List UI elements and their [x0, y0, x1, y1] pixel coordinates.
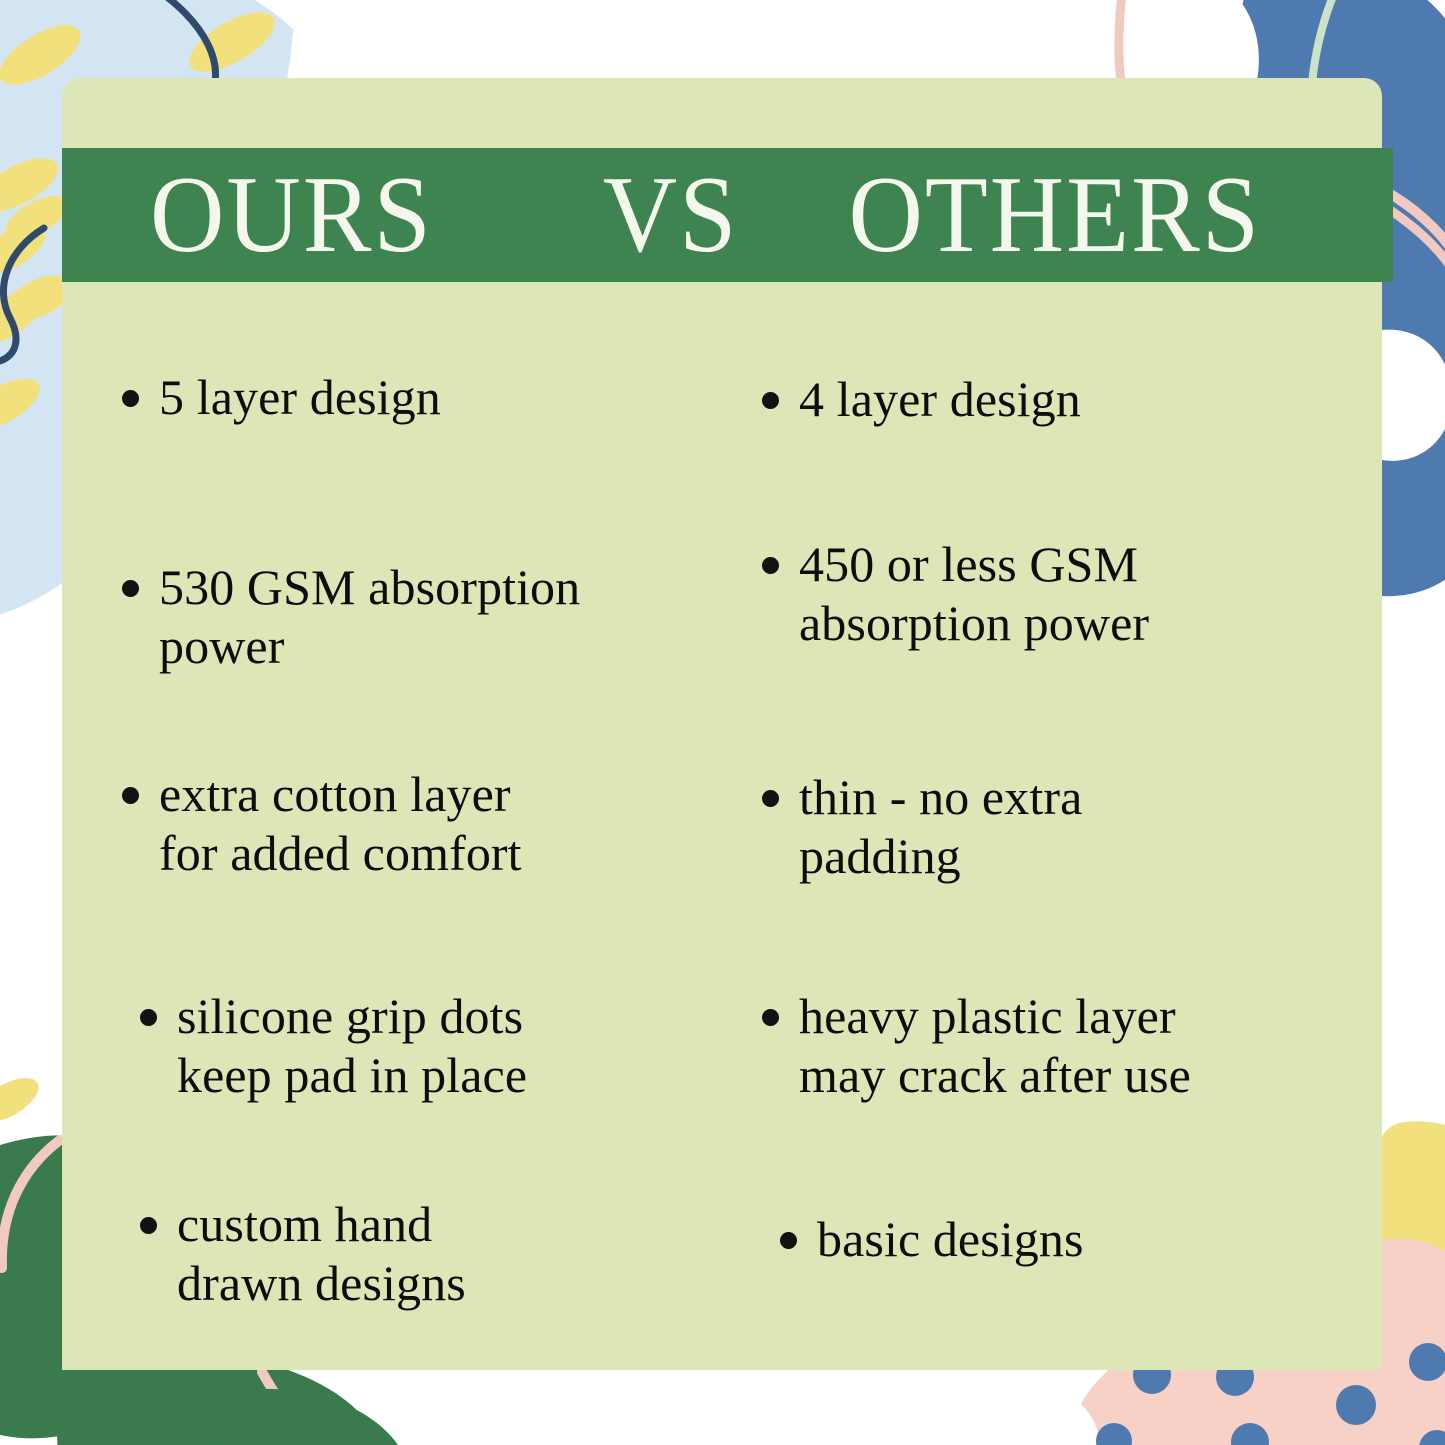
others-feature-item: 4 layer design [762, 370, 1081, 429]
bullet-icon [122, 390, 139, 407]
others-feature-text: thin - no extra padding [799, 768, 1082, 885]
others-feature-text: 4 layer design [799, 370, 1081, 429]
others-feature-item: basic designs [780, 1210, 1084, 1269]
ours-feature-item: custom hand drawn designs [140, 1195, 466, 1312]
others-feature-item: 450 or less GSM absorption power [762, 535, 1149, 652]
bullet-icon [762, 392, 779, 409]
others-column: 4 layer design 450 or less GSM absorptio… [722, 300, 1382, 1350]
bullet-icon [762, 557, 779, 574]
comparison-header-banner: OURS VS OTHERS [62, 148, 1393, 282]
comparison-infographic: OURS VS OTHERS 5 layer design 530 GSM ab… [0, 0, 1445, 1445]
ours-feature-text: custom hand drawn designs [177, 1195, 466, 1312]
bullet-icon [140, 1217, 157, 1234]
others-feature-text: basic designs [817, 1210, 1084, 1269]
bullet-icon [780, 1232, 797, 1249]
feature-comparison-columns: 5 layer design 530 GSM absorption power … [62, 300, 1382, 1350]
others-feature-item: heavy plastic layer may crack after use [762, 987, 1191, 1104]
banner-ours-label: OURS [150, 160, 433, 269]
ours-feature-item: 5 layer design [122, 368, 441, 427]
bullet-icon [122, 787, 139, 804]
ours-feature-text: extra cotton layer for added comfort [159, 765, 522, 882]
ours-feature-item: silicone grip dots keep pad in place [140, 987, 527, 1104]
banner-vs-label: VS [603, 160, 739, 269]
ours-feature-item: extra cotton layer for added comfort [122, 765, 522, 882]
others-feature-text: heavy plastic layer may crack after use [799, 987, 1191, 1104]
banner-others-label: OTHERS [848, 160, 1261, 269]
bullet-icon [762, 790, 779, 807]
bullet-icon [122, 580, 139, 597]
ours-feature-item: 530 GSM absorption power [122, 558, 580, 675]
bullet-icon [762, 1009, 779, 1026]
others-feature-text: 450 or less GSM absorption power [799, 535, 1149, 652]
bullet-icon [140, 1009, 157, 1026]
others-feature-item: thin - no extra padding [762, 768, 1082, 885]
ours-feature-text: silicone grip dots keep pad in place [177, 987, 527, 1104]
ours-feature-text: 5 layer design [159, 368, 441, 427]
ours-column: 5 layer design 530 GSM absorption power … [62, 300, 722, 1350]
ours-feature-text: 530 GSM absorption power [159, 558, 580, 675]
